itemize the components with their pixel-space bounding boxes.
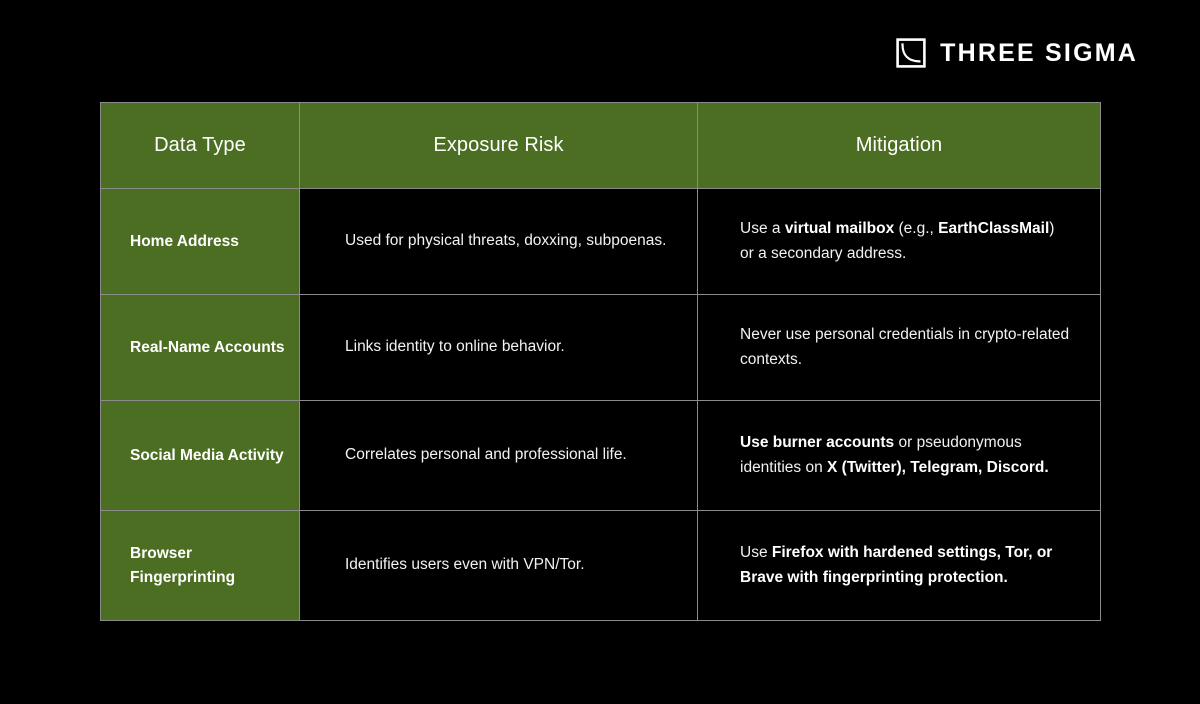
three-sigma-curve-square-logo-icon <box>896 38 926 68</box>
privacy-matrix-table-wrapper: Data Type Exposure Risk Mitigation Home … <box>100 102 1100 621</box>
emphasis-text: X (Twitter), Telegram, Discord. <box>827 459 1049 476</box>
emphasis-text: Use burner accounts <box>740 434 894 451</box>
brand-name: THREE SIGMA <box>940 41 1138 66</box>
cell-data-type: Home Address <box>101 189 300 295</box>
cell-mitigation: Use Firefox with hardened settings, Tor,… <box>698 511 1101 621</box>
cell-exposure-risk: Used for physical threats, doxxing, subp… <box>300 189 698 295</box>
table-header-row: Data Type Exposure Risk Mitigation <box>101 103 1101 189</box>
table-row: Browser Fingerprinting Identifies users … <box>101 511 1101 621</box>
cell-data-type: Real-Name Accounts <box>101 295 300 401</box>
column-header-mitigation: Mitigation <box>698 103 1101 189</box>
table-body: Home Address Used for physical threats, … <box>101 189 1101 621</box>
column-header-exposure-risk: Exposure Risk <box>300 103 698 189</box>
cell-exposure-risk: Links identity to online behavior. <box>300 295 698 401</box>
emphasis-text: Firefox with hardened settings, Tor, or … <box>740 544 1052 585</box>
cell-mitigation: Never use personal credentials in crypto… <box>698 295 1101 401</box>
cell-data-type: Browser Fingerprinting <box>101 511 300 621</box>
table-row: Home Address Used for physical threats, … <box>101 189 1101 295</box>
body-text: (e.g., <box>894 220 938 237</box>
cell-mitigation: Use burner accounts or pseudonymous iden… <box>698 401 1101 511</box>
table-header: Data Type Exposure Risk Mitigation <box>101 103 1101 189</box>
table-row: Real-Name Accounts Links identity to onl… <box>101 295 1101 401</box>
privacy-matrix-table: Data Type Exposure Risk Mitigation Home … <box>100 102 1101 621</box>
body-text: Never use personal credentials in crypto… <box>740 326 1069 367</box>
cell-exposure-risk: Correlates personal and professional lif… <box>300 401 698 511</box>
brand-logo: THREE SIGMA <box>896 38 1138 68</box>
cell-mitigation: Use a virtual mailbox (e.g., EarthClassM… <box>698 189 1101 295</box>
cell-exposure-risk: Identifies users even with VPN/Tor. <box>300 511 698 621</box>
body-text: Use a <box>740 220 785 237</box>
cell-data-type: Social Media Activity <box>101 401 300 511</box>
emphasis-text: EarthClassMail <box>938 220 1049 237</box>
emphasis-text: virtual mailbox <box>785 220 894 237</box>
body-text: Use <box>740 544 772 561</box>
table-row: Social Media Activity Correlates persona… <box>101 401 1101 511</box>
column-header-data-type: Data Type <box>101 103 300 189</box>
